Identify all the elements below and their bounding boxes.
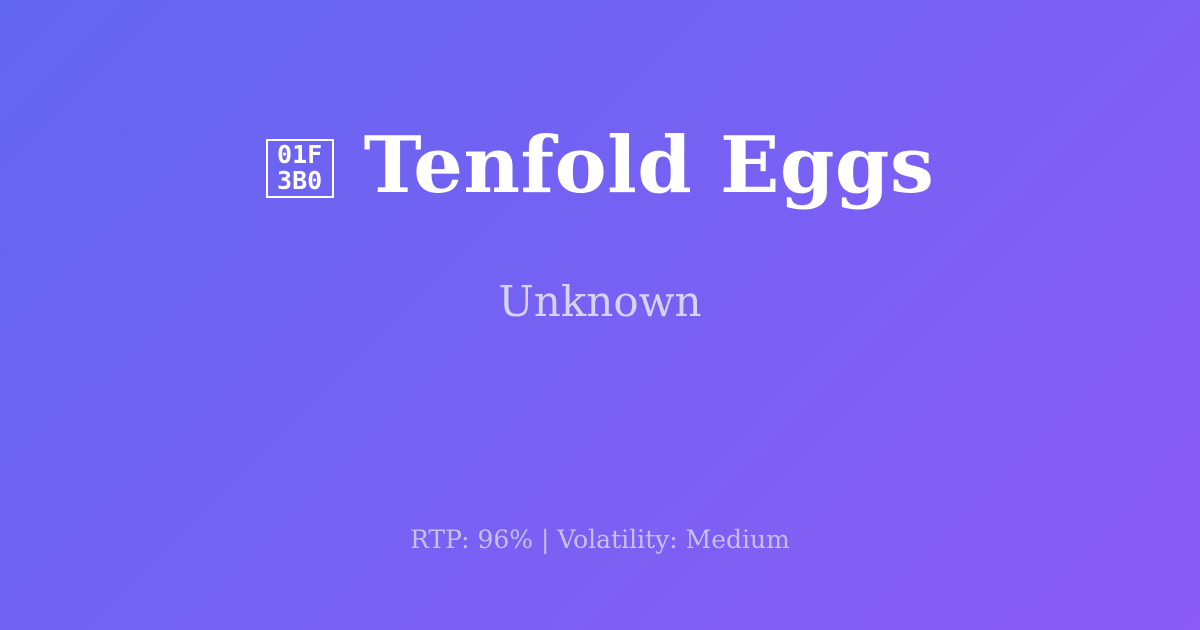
- slot-machine-icon-codepoint-low: 3B0: [277, 168, 322, 194]
- slot-machine-icon: 01F 3B0: [266, 139, 334, 198]
- headline: 01F 3B0 Tenfold Eggs: [266, 125, 935, 207]
- game-stats: RTP: 96% | Volatility: Medium: [0, 525, 1200, 555]
- game-title: Tenfold Eggs: [364, 125, 935, 207]
- slot-machine-icon-codepoint-high: 01F: [277, 142, 322, 168]
- game-provider: Unknown: [498, 207, 701, 325]
- og-preview-card: 01F 3B0 Tenfold Eggs Unknown RTP: 96% | …: [0, 0, 1200, 630]
- title-block: 01F 3B0 Tenfold Eggs Unknown: [0, 0, 1200, 470]
